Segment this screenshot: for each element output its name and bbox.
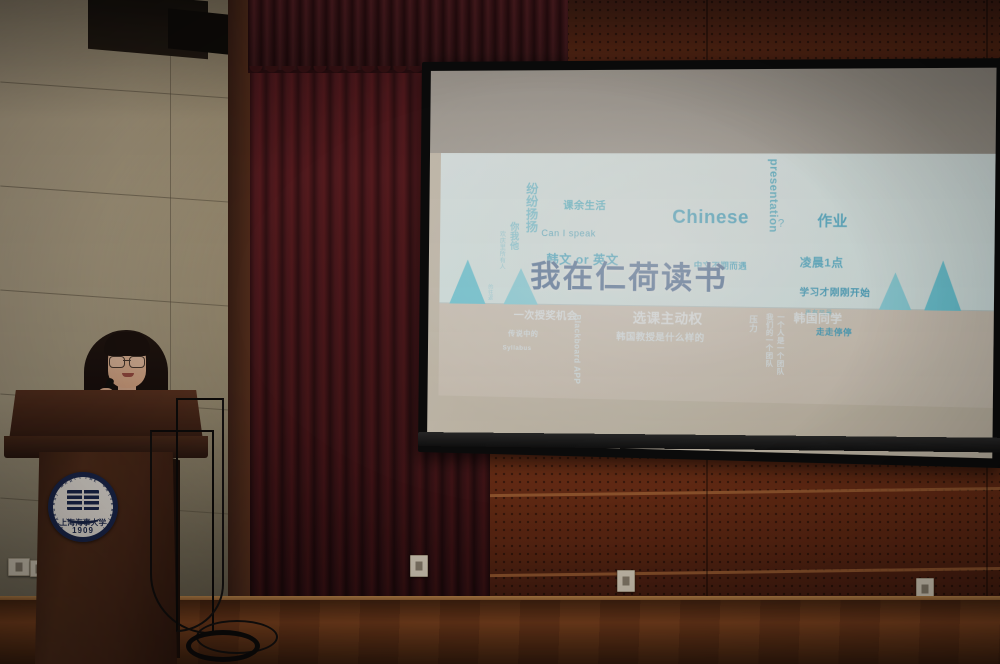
cloud-word-upper-2: Chinese [672,208,749,227]
cloud-word-upper-10: 走走停停 [816,329,852,338]
slide-mountain-2 [879,272,912,310]
cloud-word-upper-14: 的往返 [487,284,492,301]
cable-coil [186,630,260,662]
speaker-hair-front [104,332,150,356]
cloud-word-upper-4: 作业 [817,213,848,228]
audio-cable-secondary [176,398,224,632]
cloud-word-lower-1: 选课主动权 [633,311,703,325]
screen-unlit-band [430,68,997,154]
cloud-word-upper-1: Can I speak [541,229,596,239]
slide-mountain-3 [924,260,961,311]
wall-outlet [8,558,30,576]
cloud-word-lower-7: 压力 [749,315,758,333]
cloud-word-upper-11: 纷纷扬扬 [525,182,538,233]
slide-title: 我在仁荷读书 [530,251,728,298]
glasses-icon [109,356,145,366]
lecture-hall-photo: 课余生活Can I speakChinese?作业韩文 or 英文中文不期而遇凌… [0,0,1000,664]
cloud-word-upper-15: presentation [766,158,778,232]
cloud-word-lower-2: 韩国同学 [794,313,843,325]
cloud-word-lower-5: 韩国教授是什么样的 [616,333,705,344]
cloud-word-lower-9: 一个人是一个团队 [776,313,784,375]
slide-mountain-group [441,153,996,154]
slide-mountain-0 [450,259,486,304]
presentation-slide: 课余生活Can I speakChinese?作业韩文 or 英文中文不期而遇凌… [438,153,995,408]
word-cloud-upper: 课余生活Can I speakChinese?作业韩文 or 英文中文不期而遇凌… [441,153,996,154]
emblem-books-icon [67,490,99,510]
cloud-word-upper-0: 课余生活 [563,202,606,212]
cloud-word-upper-8: 学习才刚刚开始 [799,288,870,298]
projection-surface: 课余生活Can I speakChinese?作业韩文 or 英文中文不期而遇凌… [427,68,997,459]
cloud-word-upper-12: 你我他 [509,221,518,250]
cloud-word-lower-6: Blackboard APP [572,315,581,385]
wall-outlet [410,555,428,577]
cloud-word-lower-4: Syllabus [503,345,532,352]
projection-screen: 课余生活Can I speakChinese?作业韩文 or 英文中文不期而遇凌… [418,58,1000,468]
word-cloud-lower: 一次授奖机会选课主动权韩国同学传说中的Syllabus韩国教授是什么样的Blac… [441,153,996,154]
university-emblem: SHANGHAI MARITIME UNIVERSITY 上海海事大学 1909 [48,472,118,542]
emblem-year: 1909 [72,526,94,535]
cloud-word-lower-0: 一次授奖机会 [514,311,578,322]
cloud-word-upper-7: 凌晨1点 [800,258,844,270]
cloud-word-lower-3: 传说中的 [508,331,538,339]
cloud-word-lower-8: 我们的一个团队 [765,313,773,367]
cloud-word-upper-13: 欢庆里所有人 [498,231,504,270]
wall-outlet [617,570,635,592]
